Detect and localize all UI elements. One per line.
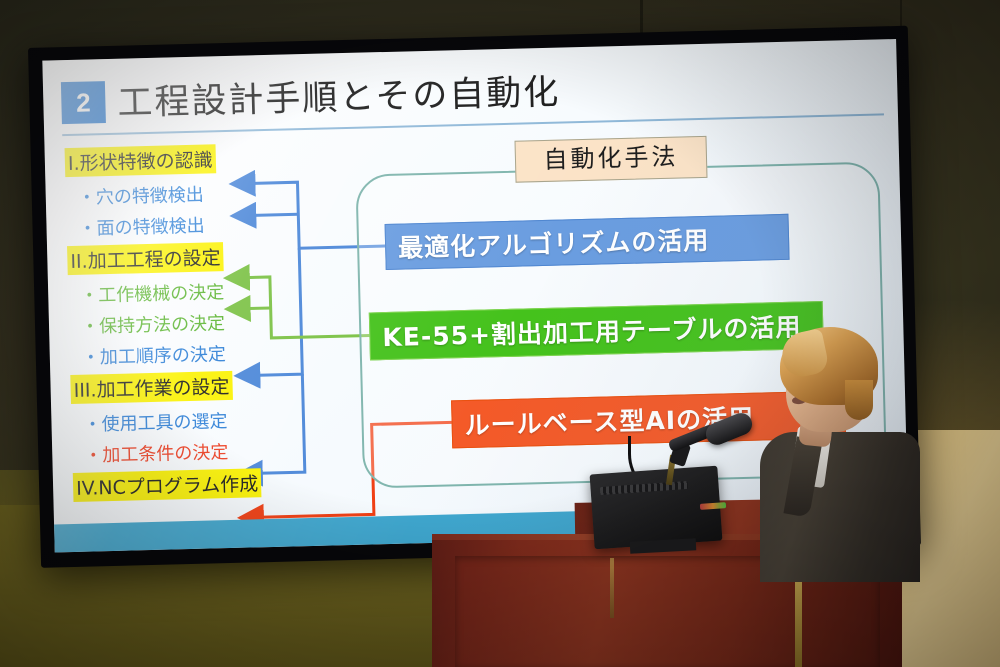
automation-methods-header: 自動化手法 (515, 136, 708, 183)
list-item: ・保持方法の決定 (81, 307, 320, 339)
list-item: ・工作機械の決定 (80, 276, 319, 308)
list-item: ・穴の特徴検出 (77, 178, 316, 210)
list-item: ・使用工具の選定 (83, 405, 322, 437)
podium-gold-trim-secondary (610, 558, 614, 618)
section-heading-1: I.形状特徴の認識 (65, 144, 216, 177)
list-item: ・加工順序の決定 (82, 338, 321, 370)
process-step-list: I.形状特徴の認識 ・穴の特徴検出 ・面の特徴検出 II.加工工程の設定 ・工作… (65, 142, 324, 504)
list-item: ・面の特徴検出 (78, 209, 317, 241)
presenter-hair-side (845, 380, 873, 420)
section-heading-2: II.加工工程の設定 (67, 242, 224, 275)
list-item: ・加工条件の決定 (84, 436, 323, 468)
section-heading-4: IV.NCプログラム作成 (73, 468, 262, 502)
section-heading-3: III.加工作業の設定 (70, 371, 233, 404)
photo-scene: 2 工程設計手順とその自動化 (0, 0, 1000, 667)
